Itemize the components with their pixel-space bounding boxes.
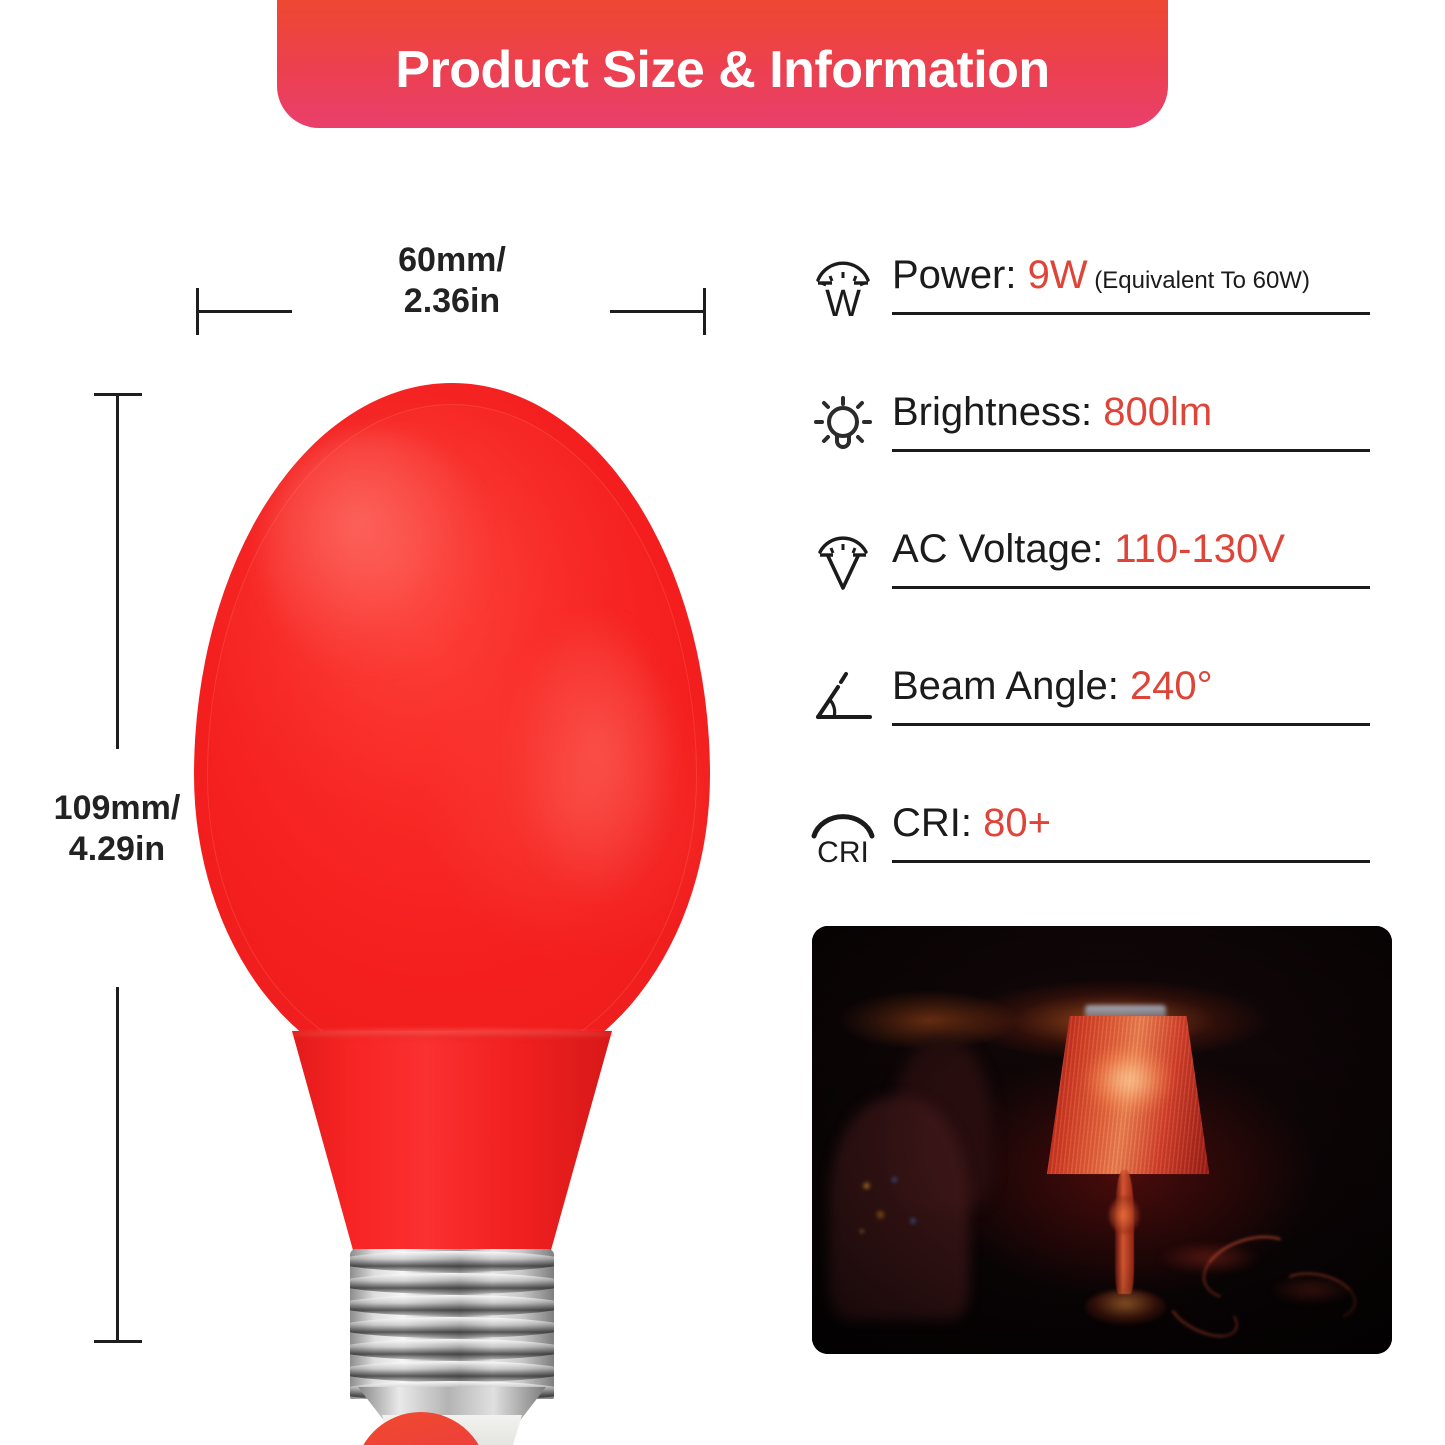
badge-circle: E26 bbox=[354, 1412, 488, 1445]
voltage-gauge-icon bbox=[800, 526, 886, 600]
width-cap-right bbox=[703, 288, 706, 335]
width-dimension: 60mm/ 2.36in bbox=[196, 288, 706, 344]
spec-text-voltage: AC Voltage: 110-130V bbox=[886, 527, 1400, 572]
spec-divider bbox=[892, 312, 1370, 315]
lamp-scene-photo bbox=[812, 926, 1392, 1354]
spec-row-cri: CRI CRI: 80+ bbox=[800, 800, 1400, 937]
svg-text:CRI: CRI bbox=[817, 836, 869, 868]
spec-body-voltage: AC Voltage: 110-130V bbox=[886, 526, 1400, 589]
photo-lamp-glow bbox=[1085, 1046, 1172, 1114]
bulb-globe bbox=[194, 383, 710, 1083]
height-dimension-label: 109mm/ 4.29in bbox=[30, 788, 204, 871]
spec-label-power: Power: bbox=[892, 253, 1028, 297]
spec-label-brightness: Brightness: bbox=[892, 390, 1103, 434]
spec-value-voltage: 110-130V bbox=[1114, 527, 1285, 571]
specification-list: W Power: 9W (Equivalent To 60W) bbox=[800, 252, 1400, 937]
spec-label-beam-angle: Beam Angle: bbox=[892, 664, 1130, 708]
width-dimension-label: 60mm/ 2.36in bbox=[304, 240, 600, 323]
beam-angle-icon bbox=[800, 663, 886, 737]
height-line-top bbox=[116, 394, 119, 749]
spec-value-cri: 80+ bbox=[983, 801, 1051, 845]
width-line-right bbox=[610, 310, 705, 313]
spec-divider bbox=[892, 723, 1370, 726]
svg-text:W: W bbox=[825, 283, 861, 320]
page-title: Product Size & Information bbox=[395, 44, 1049, 96]
bulb-neck bbox=[292, 1031, 612, 1261]
watt-gauge-icon: W bbox=[800, 252, 886, 326]
spec-row-voltage: AC Voltage: 110-130V bbox=[800, 526, 1400, 663]
cri-arc-icon: CRI bbox=[800, 800, 886, 874]
spec-text-cri: CRI: 80+ bbox=[886, 801, 1400, 846]
spec-body-beam-angle: Beam Angle: 240° bbox=[886, 663, 1400, 726]
base-thread bbox=[350, 1273, 554, 1294]
header-banner: Product Size & Information bbox=[277, 0, 1168, 128]
product-infographic: Product Size & Information 60mm/ 2.36in … bbox=[0, 0, 1445, 1445]
spec-label-voltage: AC Voltage: bbox=[892, 527, 1114, 571]
bulb-highlight-right bbox=[514, 621, 669, 901]
spec-text-brightness: Brightness: 800lm bbox=[886, 390, 1400, 435]
bulb-highlight-top bbox=[261, 432, 488, 670]
spec-divider bbox=[892, 860, 1370, 863]
bulb-neck-seam bbox=[290, 1029, 614, 1039]
e26-base-badge: E26 bbox=[354, 1412, 488, 1445]
base-thread bbox=[350, 1317, 554, 1338]
spec-row-power: W Power: 9W (Equivalent To 60W) bbox=[800, 252, 1400, 389]
base-thread bbox=[350, 1361, 554, 1382]
spec-divider bbox=[892, 449, 1370, 452]
spec-row-beam-angle: Beam Angle: 240° bbox=[800, 663, 1400, 800]
spec-value-power: 9W bbox=[1028, 253, 1088, 297]
base-thread bbox=[350, 1339, 554, 1360]
spec-label-cri: CRI: bbox=[892, 801, 983, 845]
spec-divider bbox=[892, 586, 1370, 589]
width-line-left bbox=[197, 310, 292, 313]
brightness-bulb-icon bbox=[800, 389, 886, 463]
base-thread bbox=[350, 1251, 554, 1272]
product-panel: 60mm/ 2.36in 109mm/ 4.29in bbox=[0, 128, 790, 1445]
spec-body-cri: CRI: 80+ bbox=[886, 800, 1400, 863]
spec-text-beam-angle: Beam Angle: 240° bbox=[886, 664, 1400, 709]
base-thread bbox=[350, 1295, 554, 1316]
height-cap-bottom bbox=[94, 1340, 142, 1343]
led-bulb-image: E26 bbox=[186, 383, 716, 1443]
photo-dress-pattern bbox=[841, 1157, 957, 1260]
spec-note-power: (Equivalent To 60W) bbox=[1088, 267, 1310, 294]
spec-value-beam-angle: 240° bbox=[1130, 664, 1213, 708]
spec-text-power: Power: 9W (Equivalent To 60W) bbox=[886, 253, 1400, 298]
height-line-bottom bbox=[116, 987, 119, 1342]
spec-body-brightness: Brightness: 800lm bbox=[886, 389, 1400, 452]
spec-body-power: Power: 9W (Equivalent To 60W) bbox=[886, 252, 1400, 315]
spec-value-brightness: 800lm bbox=[1103, 390, 1212, 434]
spec-row-brightness: Brightness: 800lm bbox=[800, 389, 1400, 526]
bulb-screw-base bbox=[350, 1249, 554, 1399]
